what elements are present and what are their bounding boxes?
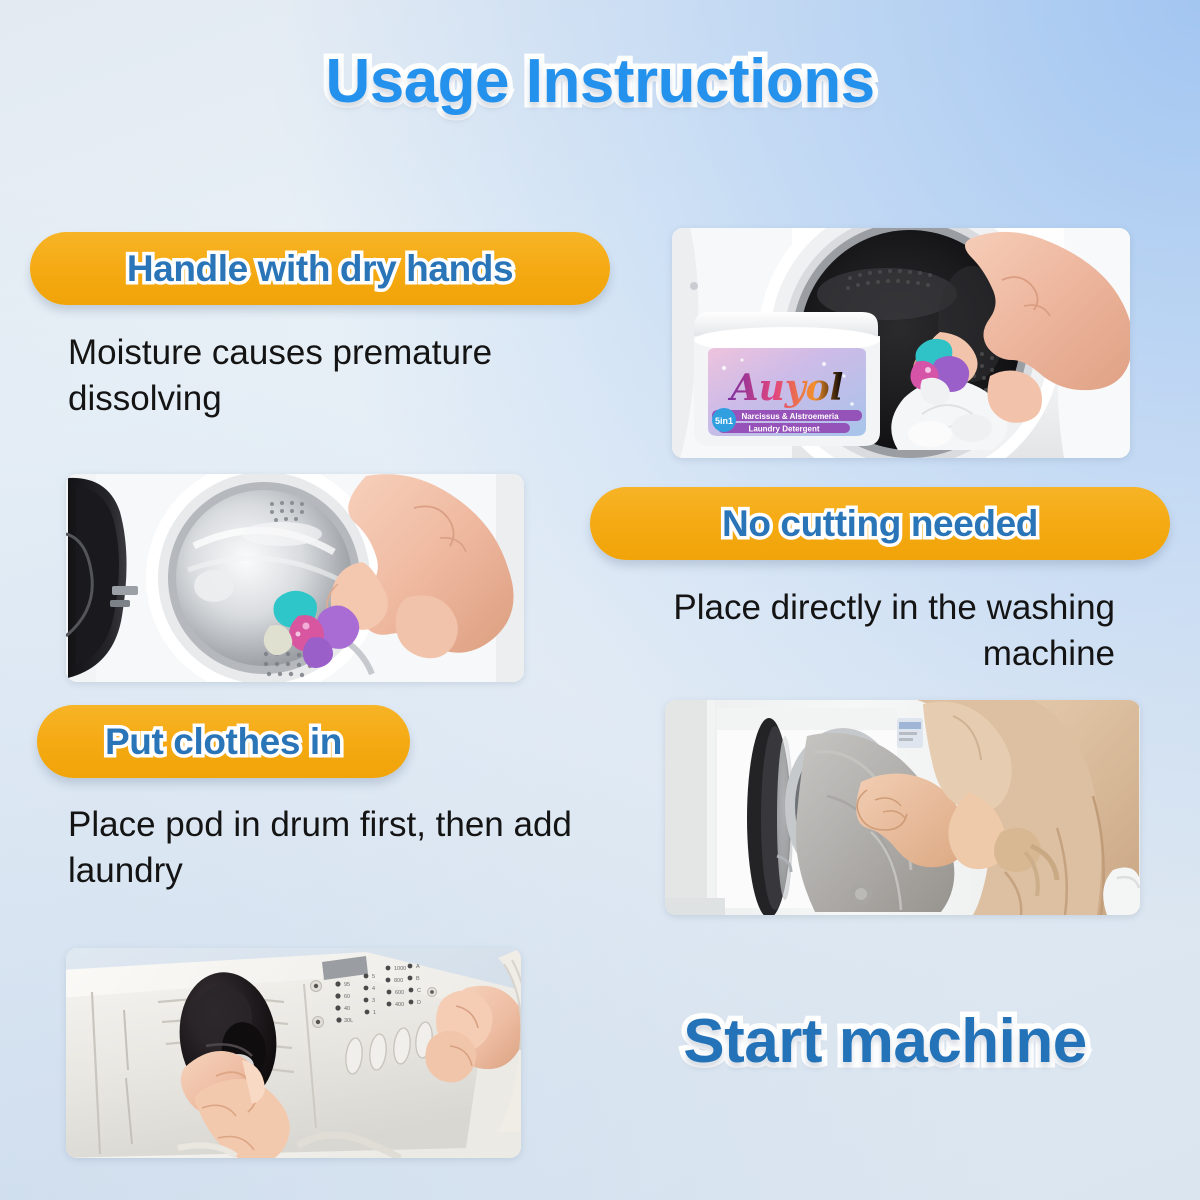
svg-text:40: 40	[344, 1006, 350, 1012]
woman-loading-towel-photo	[665, 700, 1140, 915]
badge-start-machine: Start machine	[600, 1006, 1170, 1077]
badge-no-cutting-needed: No cutting needed	[590, 487, 1170, 560]
svg-text:60: 60	[344, 994, 350, 1000]
svg-text:5in1: 5in1	[715, 416, 733, 426]
svg-text:95: 95	[344, 982, 350, 988]
step-1-description: Moisture causes premature dissolving	[68, 330, 588, 422]
badge-handle-with-dry-hands: Handle with dry hands	[30, 232, 610, 305]
washing-machine-pod-drop-photo: Auyol Narcissus & Alstroemeria Laundry D…	[672, 228, 1130, 458]
svg-text:4: 4	[372, 986, 375, 992]
control-panel-dial-photo: 9560 4030L 54 31 1000800 600400 AB CD	[66, 948, 521, 1158]
product-brand: Auyol	[728, 367, 844, 409]
svg-text:Laundry Detergent: Laundry Detergent	[748, 425, 819, 434]
svg-text:800: 800	[394, 978, 403, 984]
step-2-description: Place directly in the washing machine	[590, 585, 1115, 677]
pod-into-drum-photo	[66, 474, 524, 682]
badge-label: No cutting needed	[722, 503, 1038, 545]
svg-text:A: A	[416, 964, 420, 970]
step-3-description: Place pod in drum first, then add laundr…	[68, 802, 593, 894]
svg-text:5: 5	[372, 974, 375, 980]
badge-label: Put clothes in	[105, 721, 342, 763]
infographic-canvas: Usage Instructions Handle with dry hands…	[0, 0, 1200, 1200]
svg-text:D: D	[417, 1000, 421, 1006]
svg-text:B: B	[416, 976, 420, 982]
svg-text:600: 600	[395, 990, 404, 996]
page-title: Usage Instructions	[0, 46, 1200, 117]
svg-text:1000: 1000	[394, 966, 406, 972]
badge-label: Handle with dry hands	[127, 248, 513, 290]
svg-text:C: C	[417, 988, 421, 994]
badge-put-clothes-in: Put clothes in	[37, 705, 410, 778]
svg-text:1: 1	[373, 1010, 376, 1016]
svg-text:3: 3	[372, 998, 375, 1004]
svg-text:Narcissus & Alstroemeria: Narcissus & Alstroemeria	[741, 412, 839, 421]
svg-text:400: 400	[395, 1002, 404, 1008]
svg-text:30L: 30L	[344, 1018, 353, 1024]
